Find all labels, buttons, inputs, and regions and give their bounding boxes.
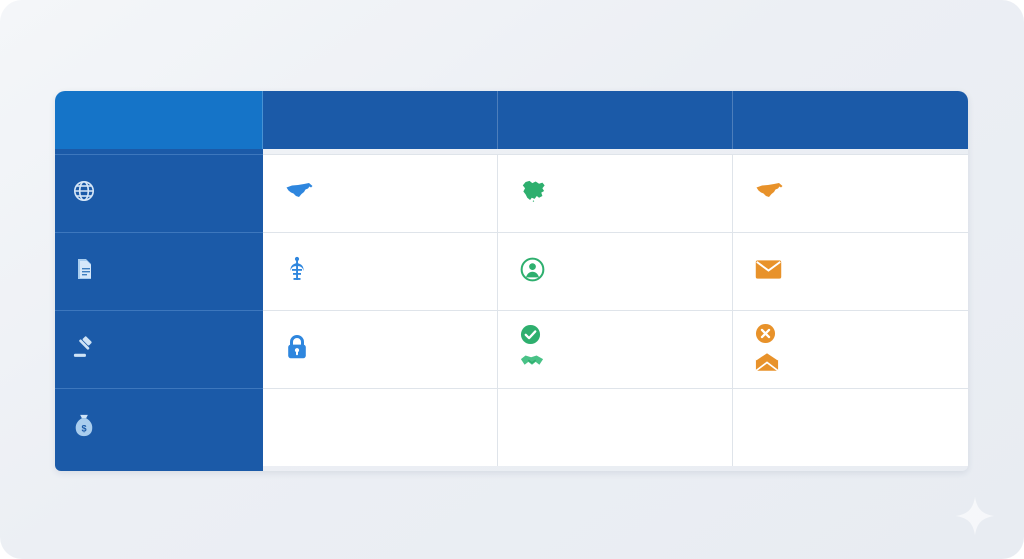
gavel-icon [72,335,97,365]
gdpr-rule-icons [520,324,544,375]
feature-cell: $ [55,388,263,466]
table-row [55,310,968,388]
value-cell-gdpr [498,154,733,232]
padlock-icon [285,334,309,365]
value-cell-gdpr [498,388,733,466]
value-cell-canspam [733,388,968,466]
column-header-hipaa [263,91,498,149]
value-cell-gdpr [498,310,733,388]
money-bag-icon: $ [72,413,96,443]
us-map-icon [285,180,315,207]
footer-accent-bars [55,466,968,471]
table-header-row [55,91,968,149]
canspam-rule-icons [755,323,779,377]
value-cell-gdpr [498,232,733,310]
check-circle-icon [520,324,544,350]
accent-bar-bottom-canspam [733,466,968,471]
accent-bar-bottom-hipaa [263,466,498,471]
svg-text:$: $ [81,423,86,433]
column-header-gdpr [498,91,733,149]
table-row [55,154,968,232]
infographic-canvas: $ [0,0,1024,559]
value-cell-canspam [733,232,968,310]
feature-cell [55,310,263,388]
caduceus-icon [285,256,309,287]
value-cell-hipaa [263,310,498,388]
handshake-icon [520,352,544,375]
feature-cell [55,154,263,232]
sparkle-icon [954,495,996,537]
value-cell-hipaa [263,154,498,232]
globe-icon [72,179,96,208]
value-cell-canspam [733,310,968,388]
table-row [55,232,968,310]
accent-bar-bottom-feature [55,466,263,471]
value-cell-hipaa [263,388,498,466]
column-header-feature [55,91,263,149]
comparison-table: $ [55,91,968,471]
envelope-icon [755,259,782,285]
eu-map-icon [520,179,548,208]
document-icon [72,257,96,286]
value-cell-hipaa [263,232,498,310]
us-map-icon [755,180,785,207]
value-cell-canspam [733,154,968,232]
open-envelope-icon [755,351,779,377]
person-circle-icon [520,257,545,287]
table-row: $ [55,388,968,466]
x-circle-icon [755,323,779,349]
feature-cell [55,232,263,310]
accent-bar-bottom-gdpr [498,466,733,471]
column-header-canspam [733,91,968,149]
